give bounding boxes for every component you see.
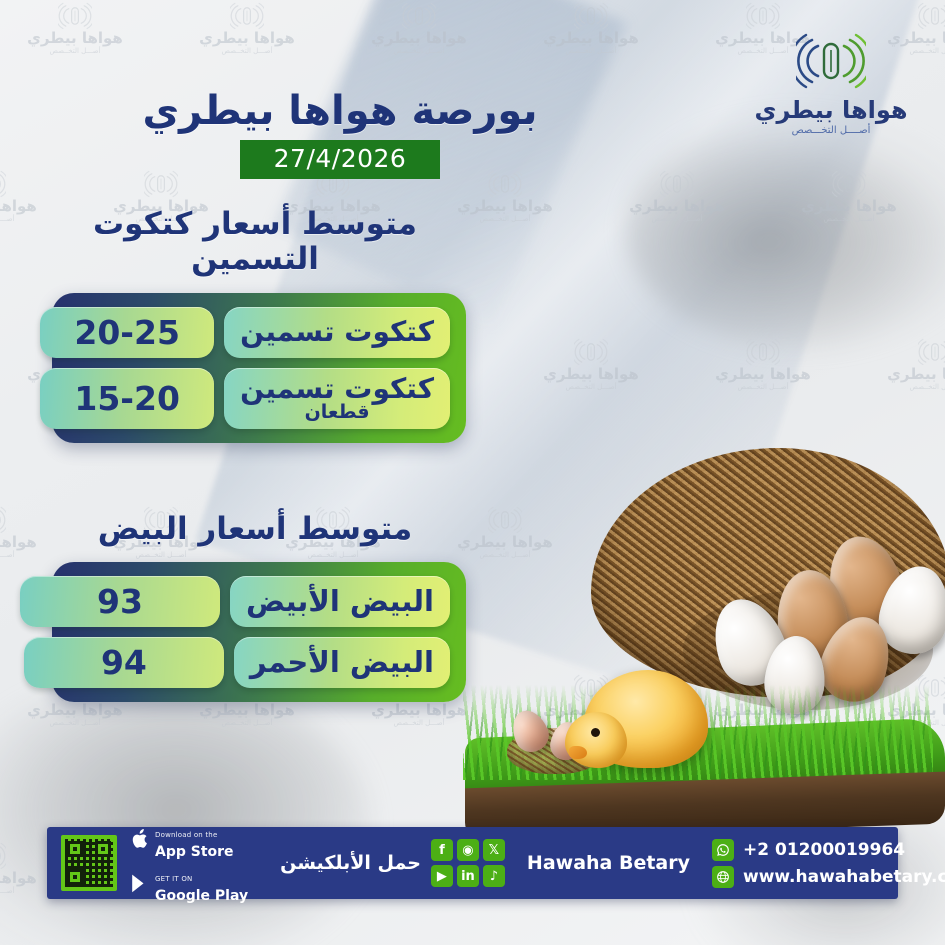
qr-finder-top-left <box>67 841 83 857</box>
price-row: البيض الأبيض 93 <box>68 576 450 627</box>
price-value: 15-20 <box>40 368 214 429</box>
logo-name: هواها بيطري <box>745 98 917 123</box>
download-app-label: حمل الأبلكيشن <box>280 852 421 874</box>
price-label: البيض الأبيض <box>230 576 450 627</box>
brand-logo: هواها بيطري أصــــل التخـــصص <box>745 28 917 136</box>
phone-number: +2 01200019964 <box>743 840 905 860</box>
watermark-tile: هواها بيطريأصـــل التخــصص <box>860 336 945 391</box>
sound-wave-capsule-icon <box>745 28 917 94</box>
brand-name-latin: Hawaha Betary <box>527 852 690 874</box>
date-badge-text: 27/4/2026 <box>240 140 441 179</box>
google-play-icon <box>131 874 148 897</box>
price-board-poster: هواها بيطريأصـــل التخــصصهواها بيطريأصـ… <box>0 0 945 945</box>
price-panel-chicks: كتكوت تسمين 20-25 كتكوت تسمين قطعان 15-2… <box>52 293 466 443</box>
apple-icon <box>131 829 148 853</box>
contact-info: +2 01200019964 www.hawahabetary.com <box>712 839 945 888</box>
price-label-sub: قطعان <box>305 403 370 423</box>
price-row: كتكوت تسمين 20-25 <box>68 307 450 358</box>
price-row: كتكوت تسمين قطعان 15-20 <box>68 368 450 429</box>
facebook-icon[interactable]: f <box>431 839 453 861</box>
price-label: كتكوت تسمين قطعان <box>224 368 450 429</box>
website-line[interactable]: www.hawahabetary.com <box>712 866 945 888</box>
page-title: بورصة هواها بيطري <box>0 88 680 134</box>
price-value: 93 <box>20 576 220 627</box>
nest-eggs-chick-photo <box>455 440 945 840</box>
price-panel-eggs: البيض الأبيض 93 البيض الأحمر 94 <box>52 562 466 702</box>
youtube-icon[interactable]: ▶ <box>431 865 453 887</box>
linkedin-icon[interactable]: in <box>457 865 479 887</box>
section-heading-eggs: متوسط أسعار البيض <box>55 512 455 547</box>
app-store-top: Download on the <box>155 831 217 839</box>
tiktok-icon[interactable]: ♪ <box>483 865 505 887</box>
footer-bar: Download on the App Store GET IT ON Goog… <box>47 827 898 899</box>
watermark-tile: هواها بيطريأصـــل التخــصص <box>0 0 150 55</box>
google-play-button[interactable]: GET IT ON Google Play <box>131 866 248 904</box>
qr-finder-top-right <box>95 841 111 857</box>
app-store-button[interactable]: Download on the App Store <box>131 822 248 860</box>
qr-code[interactable] <box>61 835 117 891</box>
price-row: البيض الأحمر 94 <box>68 637 450 688</box>
app-store-main: App Store <box>155 844 234 860</box>
x-twitter-icon[interactable]: 𝕏 <box>483 839 505 861</box>
google-play-main: Google Play <box>155 888 248 904</box>
background-cloud-bottom-left <box>0 675 370 945</box>
qr-code-pattern <box>65 839 113 887</box>
chick-head <box>565 712 627 768</box>
price-label: البيض الأحمر <box>234 637 450 688</box>
chick-eye <box>591 728 600 737</box>
price-label-main: البيض الأحمر <box>250 647 434 679</box>
phone-line[interactable]: +2 01200019964 <box>712 839 945 861</box>
price-value: 94 <box>24 637 224 688</box>
app-store-badges: Download on the App Store GET IT ON Goog… <box>131 822 248 904</box>
price-label-main: كتكوت تسمين <box>240 317 434 348</box>
logo-tagline: أصــــل التخـــصص <box>745 125 917 136</box>
baby-chick <box>565 670 715 782</box>
date-badge: 27/4/2026 <box>0 140 680 179</box>
chick-beak <box>569 746 587 759</box>
website-url: www.hawahabetary.com <box>743 867 945 887</box>
qr-finder-bottom-left <box>67 869 83 885</box>
whatsapp-icon[interactable] <box>712 839 734 861</box>
watermark-tile: هواها بيطريأصـــل التخــصص <box>172 0 322 55</box>
section-heading-chicks: متوسط أسعار كتكوت التسمين <box>55 207 455 276</box>
price-label: كتكوت تسمين <box>224 307 450 358</box>
price-label-main: البيض الأبيض <box>246 586 434 618</box>
globe-icon[interactable] <box>712 866 734 888</box>
instagram-icon[interactable]: ◉ <box>457 839 479 861</box>
google-play-top: GET IT ON <box>155 875 192 883</box>
price-value: 20-25 <box>40 307 214 358</box>
social-links: f ◉ 𝕏 ▶ in ♪ <box>431 839 505 887</box>
